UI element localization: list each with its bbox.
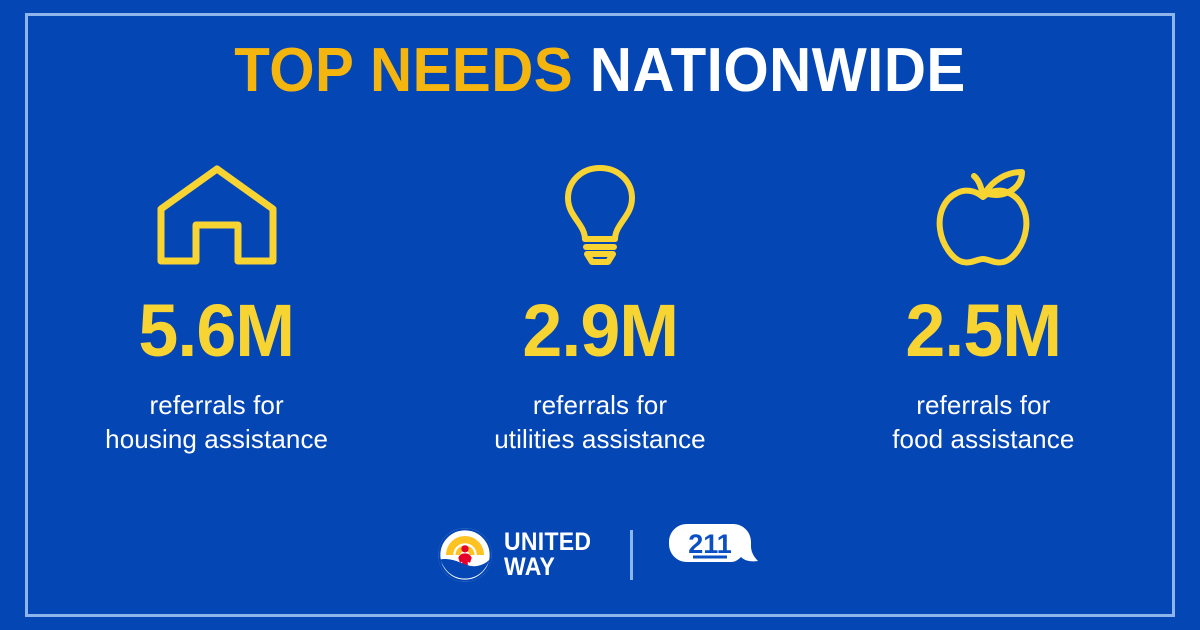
211-speech-bubble: 211 xyxy=(665,521,763,583)
footer-divider xyxy=(630,530,633,580)
211-number: 211 xyxy=(689,529,733,559)
apple-icon xyxy=(927,160,1039,270)
footer-logos: UNITED WAY 211 xyxy=(0,521,1200,588)
stat-label-utilities: referrals for utilities assistance xyxy=(494,388,706,457)
stat-label-housing-line1: referrals for xyxy=(105,388,328,422)
page-title: TOP NEEDS NATIONWIDE xyxy=(36,38,1164,103)
stat-food: 2.5M referrals for food assistance xyxy=(808,160,1158,457)
stat-housing: 5.6M referrals for housing assistance xyxy=(42,160,392,457)
page-title-plain: NATIONWIDE xyxy=(590,36,966,105)
stat-utilities: 2.9M referrals for utilities assistance xyxy=(425,160,775,457)
united-way-logo[interactable]: UNITED WAY xyxy=(437,527,599,583)
stat-label-food-line1: referrals for xyxy=(892,388,1074,422)
stat-value-housing: 5.6M xyxy=(139,294,295,368)
stat-label-utilities-line1: referrals for xyxy=(494,388,706,422)
211-bubble-logo[interactable]: 211 xyxy=(665,521,763,588)
stat-value-food: 2.5M xyxy=(905,294,1061,368)
stat-label-utilities-line2: utilities assistance xyxy=(494,422,706,456)
stat-label-food: referrals for food assistance xyxy=(892,388,1074,457)
united-way-word-line2: WAY xyxy=(504,555,591,580)
stats-row: 5.6M referrals for housing assistance 2.… xyxy=(25,160,1175,457)
stat-label-housing-line2: housing assistance xyxy=(105,422,328,456)
page-title-accent: TOP NEEDS xyxy=(234,36,573,105)
united-way-mark xyxy=(437,527,493,583)
stat-label-food-line2: food assistance xyxy=(892,422,1074,456)
united-way-wordmark: UNITED WAY xyxy=(504,530,591,579)
stat-label-housing: referrals for housing assistance xyxy=(105,388,328,457)
lightbulb-icon xyxy=(563,160,637,270)
stat-value-utilities: 2.9M xyxy=(522,294,678,368)
house-icon xyxy=(154,160,280,270)
united-way-word-line1: UNITED xyxy=(504,530,591,555)
infographic-poster: TOP NEEDS NATIONWIDE 5.6M referrals for … xyxy=(0,0,1200,630)
